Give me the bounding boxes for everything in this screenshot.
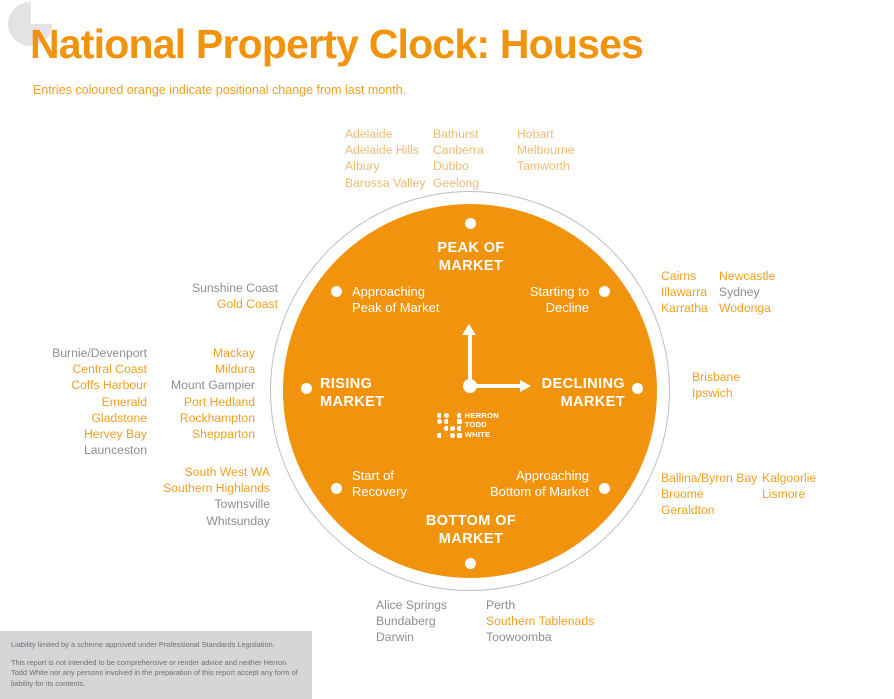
axis-origin-dot — [463, 379, 477, 393]
page-subtitle: Entries coloured orange indicate positio… — [33, 83, 406, 97]
city-group-start-of-recovery: South West WASouthern HighlandsTownsvill… — [134, 464, 270, 529]
axis-vertical-line — [468, 333, 472, 385]
city-column: Alice SpringsBundabergDarwin — [376, 597, 486, 646]
city-group-declining-market: BrisbaneIpswich — [692, 369, 740, 401]
city-entry: Emerald — [20, 394, 147, 410]
city-column: MackayMilduraMount GampierPort HedlandRo… — [143, 345, 255, 442]
city-entry: Wodonga — [719, 300, 775, 316]
city-entry: Adelaide Hills — [345, 142, 433, 158]
city-entry: Adelaide — [345, 126, 433, 142]
city-entry: Gold Coast — [162, 296, 278, 312]
city-column: South West WASouthern HighlandsTownsvill… — [134, 464, 270, 529]
city-entry: Darwin — [376, 629, 486, 645]
dial-label-bottom-of-market: BOTTOM OF MARKET — [421, 512, 521, 548]
city-entry: Hobart — [517, 126, 575, 142]
city-entry: Broome — [661, 486, 762, 502]
city-entry: Brisbane — [692, 369, 740, 385]
city-group-rising-market-outer: Burnie/DevenportCentral CoastCoffs Harbo… — [20, 345, 147, 459]
dial-label-start-recovery-line1: Start of — [352, 468, 394, 483]
page-title: National Property Clock: Houses — [30, 21, 643, 68]
city-entry: Perth — [486, 597, 594, 613]
dial-label-starting-decline-line1: Starting to — [530, 284, 589, 299]
dial-dot-rising-market — [301, 383, 312, 394]
city-entry: Bathurst — [433, 126, 517, 142]
dial-label-declining-line2: MARKET — [561, 394, 625, 410]
city-entry: Lismore — [762, 486, 816, 502]
logo-line-3: WHITE — [465, 430, 490, 439]
city-column: CairnsIllawarraKarratha — [661, 268, 719, 317]
city-column: Burnie/DevenportCentral CoastCoffs Harbo… — [20, 345, 147, 459]
dial-dot-declining-market — [632, 383, 643, 394]
dial-dot-peak-of-market — [465, 218, 476, 229]
dial-label-start-recovery-line2: Recovery — [352, 484, 407, 499]
city-group-peak-of-market: AdelaideAdelaide HillsAlburyBarossa Vall… — [345, 126, 575, 191]
dial-label-approaching-peak: Approaching Peak of Market — [352, 284, 439, 316]
city-entry: Townsville — [134, 496, 270, 512]
city-entry: Dubbo — [433, 158, 517, 174]
dial-label-peak-line1: PEAK OF — [437, 240, 504, 256]
city-entry: Karratha — [661, 300, 719, 316]
city-entry: Geraldton — [661, 502, 762, 518]
city-column: Sunshine CoastGold Coast — [162, 280, 278, 312]
axis-right-arrowhead-icon — [520, 380, 531, 392]
city-entry: Gladstone — [20, 410, 147, 426]
city-entry: Coffs Harbour — [20, 377, 147, 393]
city-entry: Sydney — [719, 284, 775, 300]
city-column: PerthSouthern TablenadsToowoomba — [486, 597, 594, 646]
city-entry: Southern Tablenads — [486, 613, 594, 629]
dial-label-starting-decline-line2: Decline — [546, 300, 589, 315]
dial-label-peak-of-market: PEAK OF MARKET — [432, 239, 510, 275]
city-column: AdelaideAdelaide HillsAlburyBarossa Vall… — [345, 126, 433, 191]
city-group-bottom-of-market: Alice SpringsBundabergDarwin PerthSouthe… — [376, 597, 594, 646]
logo-line-1: HERRON — [465, 411, 499, 420]
dial-label-approaching-bottom-line2: Bottom of Market — [490, 484, 589, 499]
city-entry: Barossa Valley — [345, 175, 433, 191]
dial-dot-bottom-of-market — [465, 558, 476, 569]
city-entry: Launceston — [20, 442, 147, 458]
disclaimer-line-2: This report is not intended to be compre… — [11, 658, 301, 690]
city-entry: Ballina/Byron Bay — [661, 470, 762, 486]
dial-label-starting-to-decline: Starting to Decline — [505, 284, 589, 316]
city-group-rising-market-inner: MackayMilduraMount GampierPort HedlandRo… — [143, 345, 255, 442]
city-entry: Central Coast — [20, 361, 147, 377]
city-entry: Sunshine Coast — [162, 280, 278, 296]
dial-dot-approaching-bottom — [599, 483, 610, 494]
dial-label-peak-line2: MARKET — [439, 258, 503, 274]
city-entry: Illawarra — [661, 284, 719, 300]
city-column: KalgoorlieLismore — [762, 470, 816, 519]
city-entry: Port Hedland — [143, 394, 255, 410]
dial-dot-start-of-recovery — [331, 483, 342, 494]
dial-label-declining-market: DECLINING MARKET — [533, 375, 625, 411]
disclaimer-box: Liability limited by a scheme approved u… — [0, 631, 312, 699]
city-column: HobartMelbourneTamworth — [517, 126, 575, 191]
logo-wordmark: HERRON TODD WHITE — [465, 411, 499, 439]
dial-label-rising-line2: MARKET — [320, 394, 384, 410]
dial-label-start-of-recovery: Start of Recovery — [352, 468, 407, 500]
city-entry: South West WA — [134, 464, 270, 480]
city-entry: Toowoomba — [486, 629, 594, 645]
city-entry: Ipswich — [692, 385, 740, 401]
dial-label-approaching-peak-line1: Approaching — [352, 284, 425, 299]
city-entry: Melbourne — [517, 142, 575, 158]
dial-label-bottom-line2: MARKET — [439, 531, 503, 547]
herron-todd-white-logo: HERRON TODD WHITE — [437, 411, 499, 439]
dial-label-approaching-peak-line2: Peak of Market — [352, 300, 439, 315]
city-entry: Mount Gampier — [143, 377, 255, 393]
dial-label-rising-line1: RISING — [320, 376, 372, 392]
city-column: NewcastleSydneyWodonga — [719, 268, 775, 317]
city-entry: Burnie/Devenport — [20, 345, 147, 361]
dial-label-declining-line1: DECLINING — [542, 376, 625, 392]
dial-label-approaching-bottom-line1: Approaching — [516, 468, 589, 483]
city-group-approaching-peak-of-market: Sunshine CoastGold Coast — [162, 280, 278, 312]
city-column: BrisbaneIpswich — [692, 369, 740, 401]
city-entry: Shepparton — [143, 426, 255, 442]
city-entry: Tamworth — [517, 158, 575, 174]
axis-horizontal-line — [472, 384, 522, 388]
city-entry: Canberra — [433, 142, 517, 158]
city-entry: Mackay — [143, 345, 255, 361]
logo-dot-matrix-icon — [437, 413, 462, 438]
city-entry: Albury — [345, 158, 433, 174]
city-entry: Kalgoorlie — [762, 470, 816, 486]
city-entry: Whitsunday — [134, 513, 270, 529]
city-entry: Rockhampton — [143, 410, 255, 426]
city-entry: Cairns — [661, 268, 719, 284]
dial-label-bottom-line1: BOTTOM OF — [426, 513, 516, 529]
dial-label-approaching-bottom: Approaching Bottom of Market — [470, 468, 589, 500]
dial-label-rising-market: RISING MARKET — [320, 375, 410, 411]
city-column: Ballina/Byron BayBroomeGeraldton — [661, 470, 762, 519]
city-entry: Hervey Bay — [20, 426, 147, 442]
city-entry: Alice Springs — [376, 597, 486, 613]
logo-line-2: TODD — [465, 420, 487, 429]
city-entry: Bundaberg — [376, 613, 486, 629]
dial-dot-approaching-peak — [331, 286, 342, 297]
disclaimer-line-1: Liability limited by a scheme approved u… — [11, 640, 301, 651]
axis-up-arrowhead-icon — [462, 324, 476, 335]
city-group-starting-to-decline: CairnsIllawarraKarratha NewcastleSydneyW… — [661, 268, 775, 317]
city-entry: Southern Highlands — [134, 480, 270, 496]
city-column: BathurstCanberraDubboGeelong — [433, 126, 517, 191]
dial-dot-starting-to-decline — [599, 286, 610, 297]
city-entry: Geelong — [433, 175, 517, 191]
city-entry: Newcastle — [719, 268, 775, 284]
city-entry: Mildura — [143, 361, 255, 377]
city-group-approaching-bottom-of-market: Ballina/Byron BayBroomeGeraldton Kalgoor… — [661, 470, 816, 519]
